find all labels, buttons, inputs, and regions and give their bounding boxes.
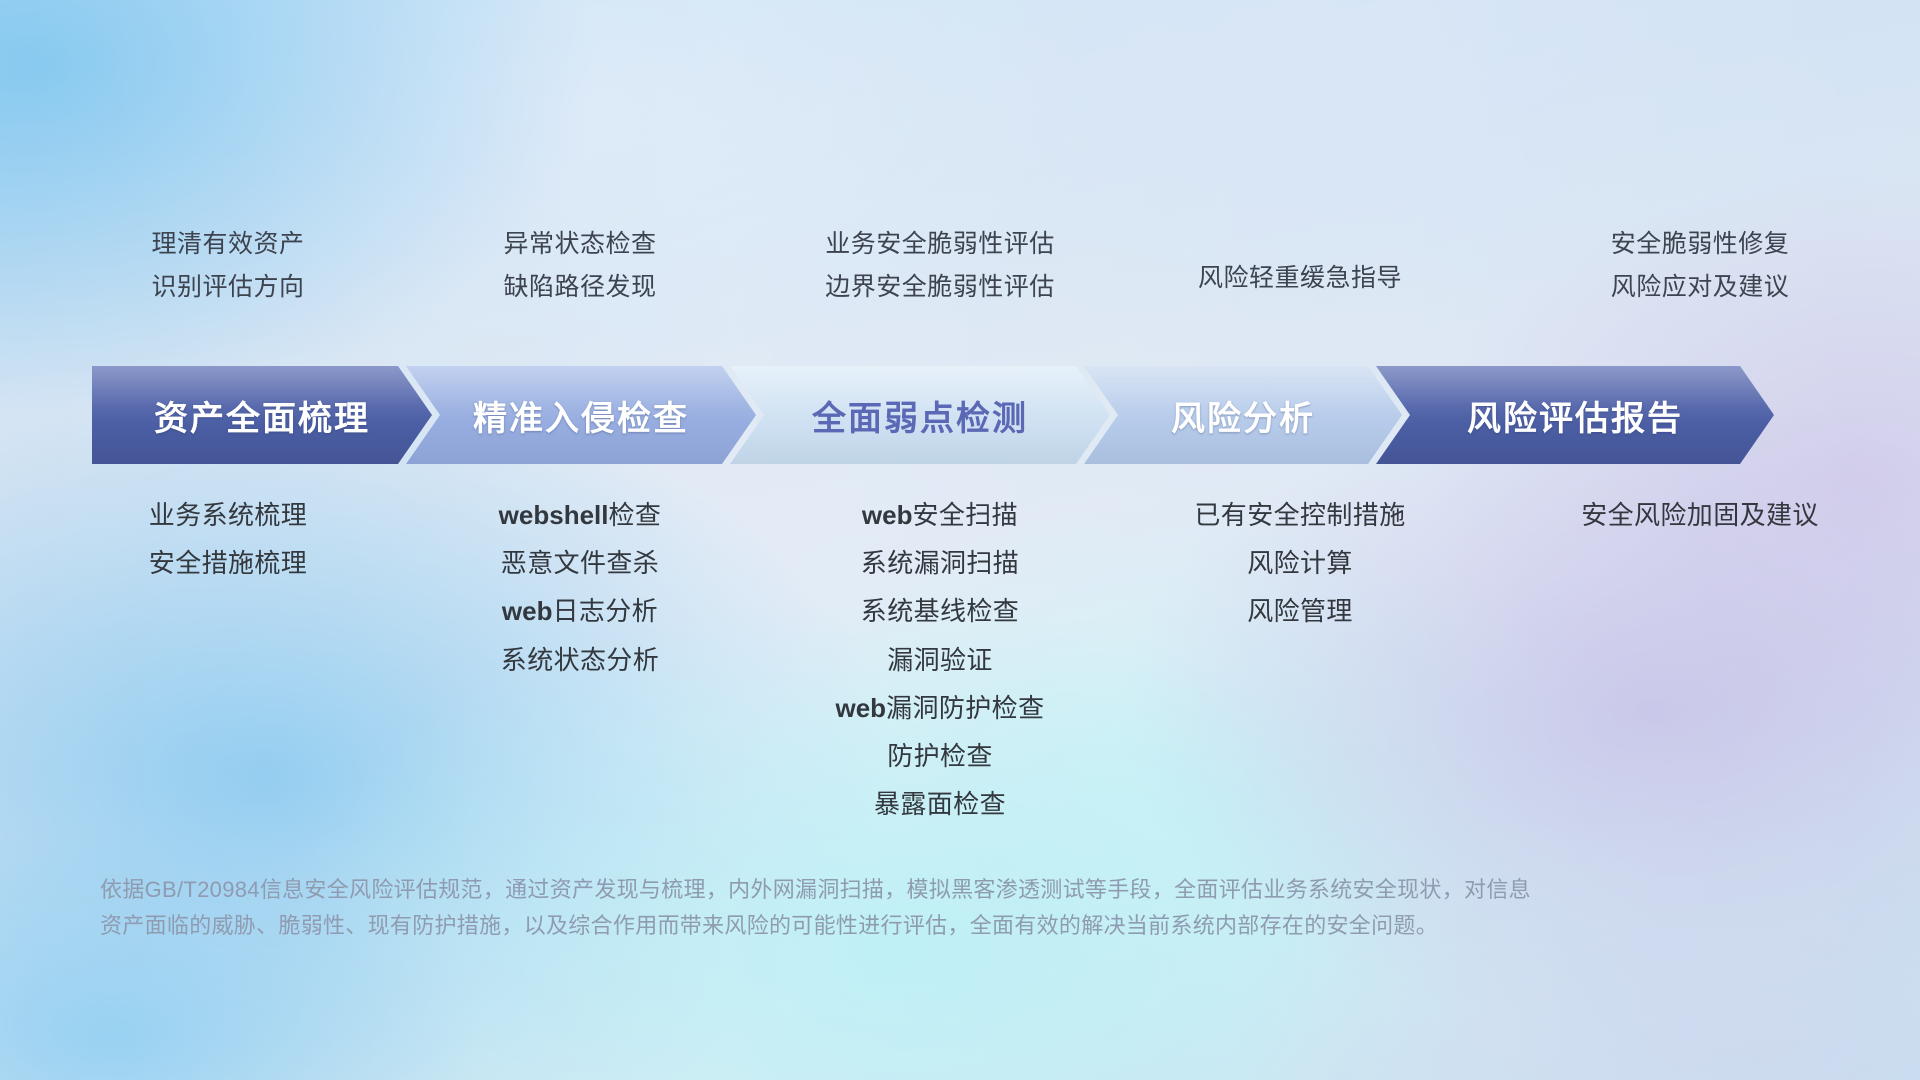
latin-token: web [836, 693, 887, 723]
process-arrow-intrusion-check[interactable]: 精准入侵检查 [406, 366, 756, 464]
bottom-label: 系统状态分析 [501, 645, 659, 676]
arrow-label-asset-inventory: 资产全面梳理 [154, 391, 370, 440]
cjk-token: 漏洞防护检查 [886, 693, 1044, 723]
cjk-token: 检查 [609, 500, 662, 530]
caption-line-1: 依据GB/T20984信息安全风险评估规范，通过资产发现与梳理，内外网漏洞扫描，… [100, 872, 1620, 908]
top-label: 安全脆弱性修复 [1611, 230, 1790, 259]
top-labels-risk-analysis: 风险轻重缓急指导 [1090, 264, 1510, 293]
top-labels-weakness-detection: 业务安全脆弱性评估边界安全脆弱性评估 [730, 230, 1150, 302]
top-label: 理清有效资产 [151, 230, 304, 259]
arrow-label-weakness-detection: 全面弱点检测 [812, 391, 1028, 440]
diagram-canvas: 理清有效资产识别评估方向异常状态检查缺陷路径发现业务安全脆弱性评估边界安全脆弱性… [0, 0, 1920, 1080]
top-label: 异常状态检查 [503, 230, 656, 259]
cjk-token: 安全扫描 [912, 500, 1018, 530]
process-arrow-band: 资产全面梳理精准入侵检查全面弱点检测风险分析风险评估报告 [92, 366, 1852, 464]
top-label-row: 理清有效资产识别评估方向异常状态检查缺陷路径发现业务安全脆弱性评估边界安全脆弱性… [0, 230, 1920, 360]
bottom-label: 暴露面检查 [874, 789, 1006, 820]
bottom-labels-weakness-detection: web安全扫描系统漏洞扫描系统基线检查漏洞验证web漏洞防护检查防护检查暴露面检… [730, 500, 1150, 820]
bottom-label: web日志分析 [502, 596, 658, 627]
bottom-label: 漏洞验证 [887, 645, 993, 676]
latin-token: web [502, 596, 553, 626]
bottom-labels-risk-report: 安全风险加固及建议 [1490, 500, 1910, 531]
bottom-label: 风险计算 [1247, 548, 1353, 579]
caption-block: 依据GB/T20984信息安全风险评估规范，通过资产发现与梳理，内外网漏洞扫描，… [100, 872, 1620, 943]
process-arrow-risk-report[interactable]: 风险评估报告 [1376, 366, 1774, 464]
arrow-label-risk-analysis: 风险分析 [1171, 391, 1315, 440]
bottom-label: 安全风险加固及建议 [1581, 500, 1819, 531]
top-label: 业务安全脆弱性评估 [825, 230, 1055, 259]
bottom-label: 已有安全控制措施 [1194, 500, 1405, 531]
latin-token: webshell [499, 500, 609, 530]
cjk-token: 日志分析 [552, 596, 658, 626]
bottom-label: webshell检查 [499, 500, 662, 531]
bottom-label: web安全扫描 [862, 500, 1018, 531]
top-label: 风险轻重缓急指导 [1198, 264, 1402, 293]
bottom-labels-intrusion-check: webshell检查恶意文件查杀web日志分析系统状态分析 [370, 500, 790, 676]
bottom-label: 风险管理 [1247, 596, 1353, 627]
bottom-label: 业务系统梳理 [149, 500, 307, 531]
latin-token: web [862, 500, 913, 530]
bottom-label: 安全措施梳理 [149, 548, 307, 579]
top-label: 缺陷路径发现 [503, 273, 656, 302]
top-labels-intrusion-check: 异常状态检查缺陷路径发现 [370, 230, 790, 302]
process-arrow-asset-inventory[interactable]: 资产全面梳理 [92, 366, 432, 464]
bottom-label: 系统漏洞扫描 [861, 548, 1019, 579]
bottom-label: web漏洞防护检查 [836, 693, 1045, 724]
top-labels-risk-report: 安全脆弱性修复风险应对及建议 [1490, 230, 1910, 302]
bottom-label: 防护检查 [887, 741, 993, 772]
caption-line-2: 资产面临的威胁、脆弱性、现有防护措施，以及综合作用而带来风险的可能性进行评估，全… [100, 908, 1620, 944]
arrow-label-intrusion-check: 精准入侵检查 [473, 391, 689, 440]
process-arrow-risk-analysis[interactable]: 风险分析 [1084, 366, 1402, 464]
top-label: 风险应对及建议 [1611, 273, 1790, 302]
bottom-label: 系统基线检查 [861, 596, 1019, 627]
top-label: 边界安全脆弱性评估 [825, 273, 1055, 302]
process-arrow-weakness-detection[interactable]: 全面弱点检测 [730, 366, 1110, 464]
bottom-label: 恶意文件查杀 [501, 548, 659, 579]
bottom-labels-risk-analysis: 已有安全控制措施风险计算风险管理 [1090, 500, 1510, 628]
top-label: 识别评估方向 [151, 273, 304, 302]
arrow-label-risk-report: 风险评估报告 [1467, 391, 1683, 440]
